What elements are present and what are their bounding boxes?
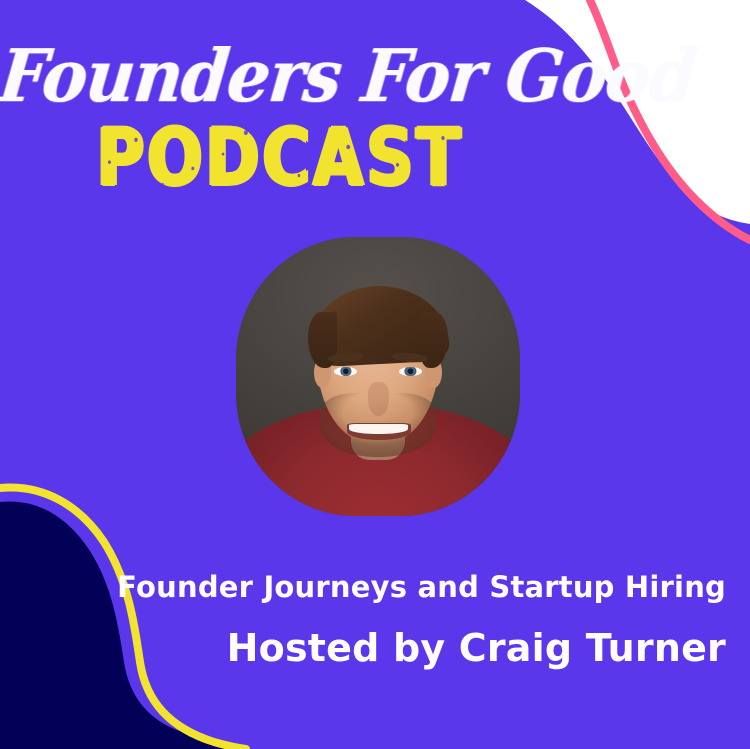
iris-left [340,367,351,376]
yellow-accent-curve [0,488,246,749]
episode-subtitle: Founder Journeys and Startup Hiring [0,570,726,604]
nose [368,382,389,415]
teeth [349,424,408,435]
show-title: Founders For Good [0,39,564,113]
host-credit: Hosted by Craig Turner [0,626,726,670]
podcast-word: PODCAST [96,118,463,197]
host-headshot [236,237,520,516]
podcast-cover: Founders For Good PODCAST Founder Journe… [0,0,750,749]
mouth [347,423,411,440]
iris-right [405,367,416,376]
title-block: Founders For Good PODCAST [0,42,560,181]
host-headshot-image [236,237,520,516]
